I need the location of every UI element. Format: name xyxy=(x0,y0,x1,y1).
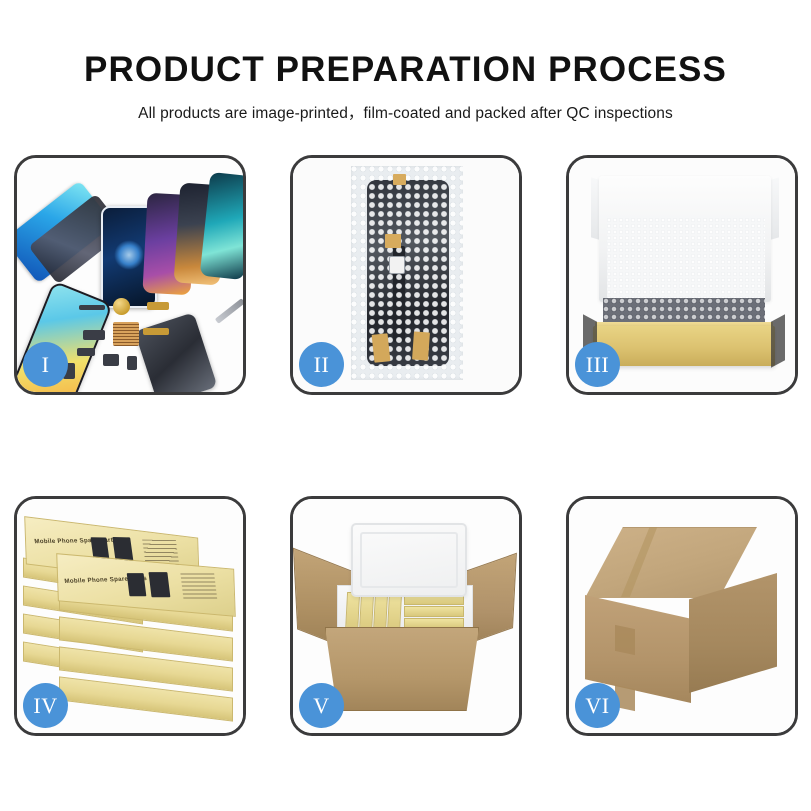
kraft-box-front xyxy=(593,326,775,366)
step-badge-3: III xyxy=(575,342,620,387)
step-panel-6[interactable]: VI xyxy=(566,496,798,736)
bubble-texture xyxy=(351,166,463,380)
vibration-motor-icon xyxy=(113,298,130,315)
box-thumbnail-c xyxy=(127,573,147,596)
step-badge-4: IV xyxy=(23,683,68,728)
camera-module-part xyxy=(83,330,105,340)
speaker-part xyxy=(103,354,119,366)
board-connector xyxy=(389,256,405,274)
process-step-grid: I II xyxy=(14,155,798,736)
packed-box-6 xyxy=(404,606,464,617)
bubble-wrap-bag xyxy=(351,166,463,380)
adhesive-tape-mid xyxy=(385,234,401,248)
step-panel-5[interactable]: V xyxy=(290,496,522,736)
adhesive-tape-left xyxy=(372,333,391,363)
step-panel-2[interactable]: II xyxy=(290,155,522,395)
button-part xyxy=(127,356,137,370)
adhesive-tape-right xyxy=(412,331,430,360)
page-title: PRODUCT PREPARATION PROCESS xyxy=(0,0,811,87)
carton-body xyxy=(325,627,479,711)
step-panel-3[interactable]: III xyxy=(566,155,798,395)
step-badge-1: I xyxy=(23,342,68,387)
step-panel-1[interactable]: I xyxy=(14,155,246,395)
step-panel-4[interactable]: Mobile Phone Spare Parts Mobile Phone Sp… xyxy=(14,496,246,736)
step-badge-2: II xyxy=(299,342,344,387)
adhesive-tape-top xyxy=(393,174,406,185)
tweezers-tool-icon xyxy=(215,298,243,324)
carton-tape-upper xyxy=(615,625,635,655)
box-spec-lines-b xyxy=(180,574,217,600)
foam-insert-lid xyxy=(351,523,467,597)
box-thumbnail-d xyxy=(148,572,170,597)
phone-back-housing xyxy=(134,312,217,392)
page-subtitle: All products are image-printed，film-coat… xyxy=(0,87,811,122)
foam-sheet xyxy=(607,218,765,302)
connector-part xyxy=(77,348,95,356)
product-preparation-infographic: PRODUCT PREPARATION PROCESS All products… xyxy=(0,0,811,811)
flex-cable-gold-a xyxy=(147,302,169,310)
step-badge-5: V xyxy=(299,683,344,728)
header: PRODUCT PREPARATION PROCESS All products… xyxy=(0,0,811,122)
earpiece-speaker-part xyxy=(79,305,105,310)
flex-cable-gold-b xyxy=(143,328,169,335)
step-badge-6: VI xyxy=(575,683,620,728)
logic-board-icon xyxy=(113,322,139,346)
